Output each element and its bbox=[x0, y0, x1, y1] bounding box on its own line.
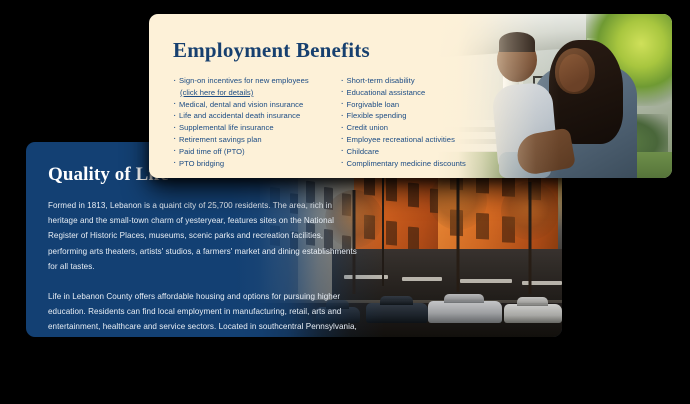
quality-of-life-paragraph-1: Formed in 1813, Lebanon is a quaint city… bbox=[48, 198, 360, 274]
list-item: Supplemental life insurance bbox=[173, 122, 323, 134]
list-item-link-wrapper: (click here for details) bbox=[173, 87, 323, 99]
benefits-list-left: Sign-on incentives for new employees (cl… bbox=[173, 75, 323, 169]
list-item: Retirement savings plan bbox=[173, 134, 323, 146]
screenshot-stage: Quality of Life Formed in 1813, Lebanon … bbox=[0, 0, 690, 404]
quality-of-life-paragraph-2: Life in Lebanon County offers affordable… bbox=[48, 289, 360, 337]
list-item: Paid time off (PTO) bbox=[173, 146, 323, 158]
list-item: Medical, dental and vision insurance bbox=[173, 99, 323, 111]
employment-benefits-title: Employment Benefits bbox=[173, 38, 479, 63]
list-item: Sign-on incentives for new employees bbox=[173, 75, 323, 87]
employment-benefits-content: Employment Benefits Sign-on incentives f… bbox=[149, 14, 479, 169]
list-item: Educational assistance bbox=[341, 87, 479, 99]
list-item: Life and accidental death insurance bbox=[173, 110, 323, 122]
list-item: Childcare bbox=[341, 146, 479, 158]
employment-benefits-card: Employment Benefits Sign-on incentives f… bbox=[149, 14, 672, 178]
list-item: PTO bridging bbox=[173, 158, 323, 170]
list-item: Credit union bbox=[341, 122, 479, 134]
click-here-for-details-link[interactable]: (click here for details) bbox=[180, 88, 253, 97]
benefits-columns: Sign-on incentives for new employees (cl… bbox=[173, 75, 479, 169]
list-item: Employee recreational activities bbox=[341, 134, 479, 146]
list-item: Short-term disability bbox=[341, 75, 479, 87]
list-item: Flexible spending bbox=[341, 110, 479, 122]
list-item: Complimentary medicine discounts bbox=[341, 158, 479, 170]
benefits-list-right: Short-term disability Educational assist… bbox=[341, 75, 479, 169]
list-item: Forgivable loan bbox=[341, 99, 479, 111]
